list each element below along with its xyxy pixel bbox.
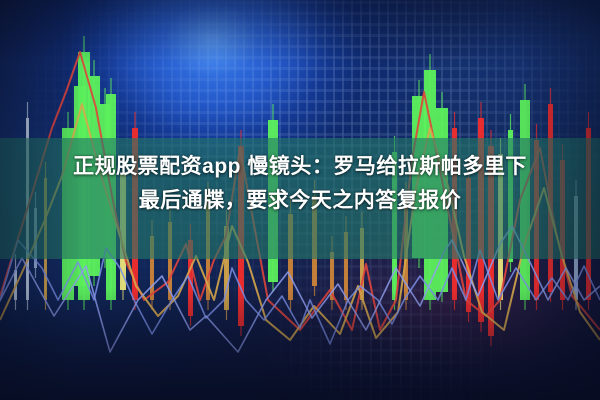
page-title: 正规股票配资app 慢镜头：罗马给拉斯帕多里下 最后通牒，要求今天之内答复报价 bbox=[0, 150, 600, 218]
news-banner: 正规股票配资app 慢镜头：罗马给拉斯帕多里下 最后通牒，要求今天之内答复报价 bbox=[0, 0, 600, 400]
